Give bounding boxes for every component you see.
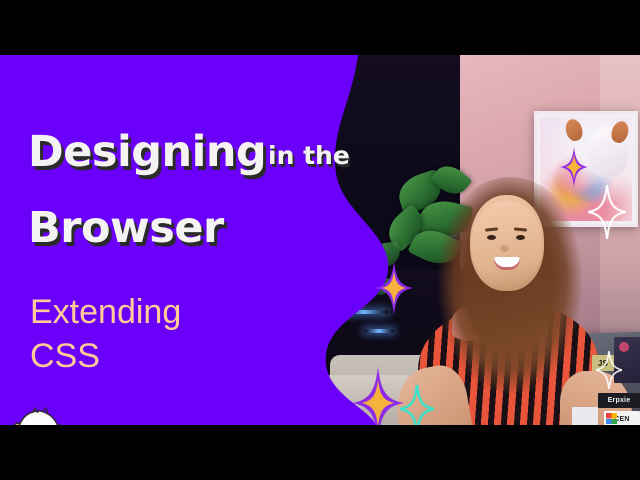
subtitle-line-css: CSS bbox=[30, 337, 100, 376]
title-line-browser: Browser bbox=[28, 203, 224, 253]
title-line-in-the: in the bbox=[268, 141, 350, 170]
subtitle-line-extending: Extending bbox=[30, 293, 181, 332]
video-thumbnail: JS Erpxie CEN bbox=[0, 0, 640, 480]
video-frame: JS Erpxie CEN bbox=[0, 55, 640, 425]
dog-mascot-logo bbox=[4, 407, 78, 425]
letterbox-bar-top bbox=[0, 0, 640, 55]
title-line-designing: Designing bbox=[28, 127, 266, 177]
title-block: Designing in the Browser Extending CSS bbox=[0, 55, 400, 425]
letterbox-bar-bottom bbox=[0, 425, 640, 480]
